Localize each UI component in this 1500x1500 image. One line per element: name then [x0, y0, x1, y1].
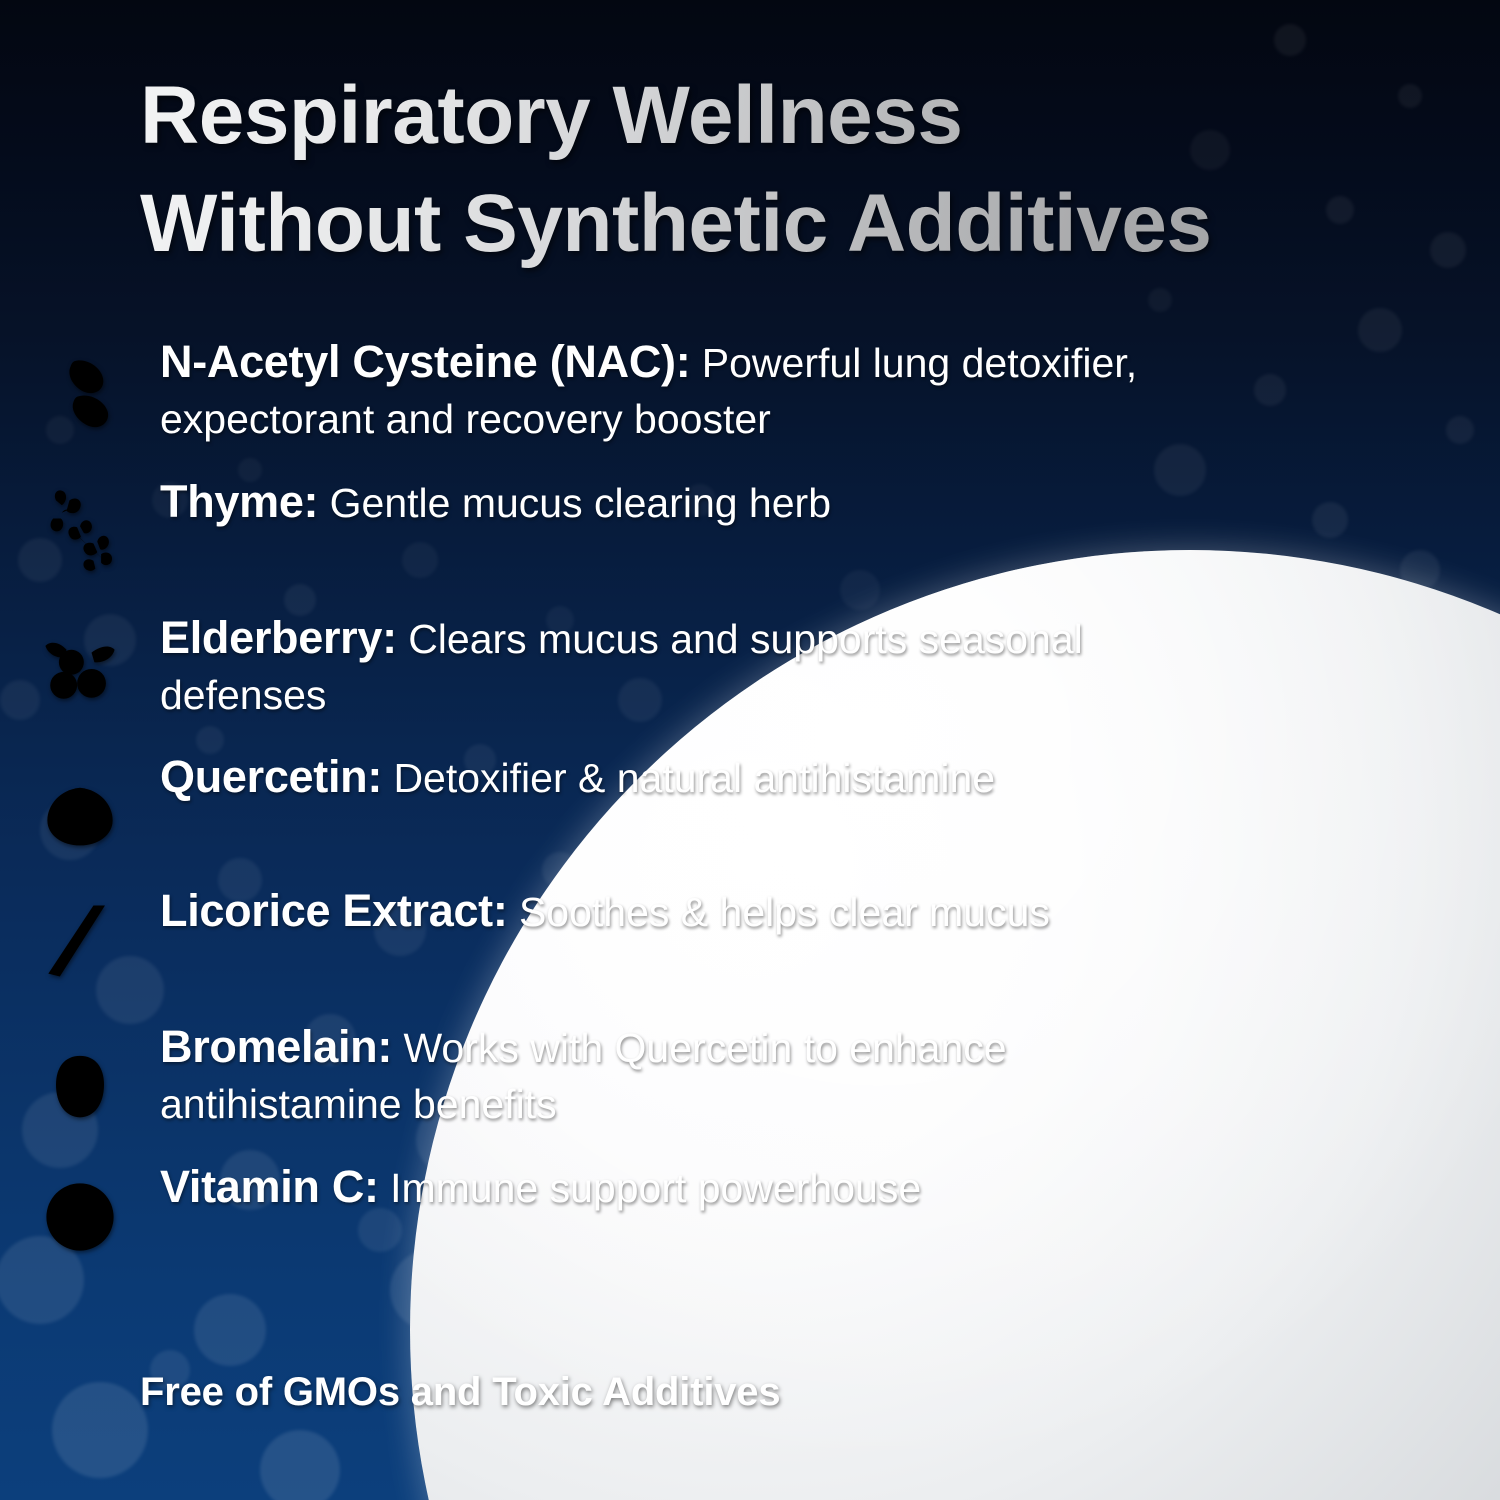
- ingredient-line: Quercetin: Detoxifier & natural antihist…: [160, 747, 995, 807]
- ingredient-row: N-Acetyl Cysteine (NAC): Powerful lung d…: [0, 330, 1500, 446]
- ingredient-term: Elderberry:: [160, 612, 397, 663]
- ingredient-line: N-Acetyl Cysteine (NAC): Powerful lung d…: [160, 332, 1170, 446]
- thyme-sprig-icon: [0, 470, 160, 580]
- pineapple-icon: [0, 1015, 160, 1125]
- ingredient-line: Vitamin C: Immune support powerhouse: [160, 1157, 921, 1217]
- ingredient-term: N-Acetyl Cysteine (NAC):: [160, 336, 690, 387]
- ingredient-text: Elderberry: Clears mucus and supports se…: [160, 606, 1290, 722]
- ingredient-term: Licorice Extract:: [160, 885, 508, 936]
- ingredient-row: Elderberry: Clears mucus and supports se…: [0, 606, 1500, 722]
- ingredient-text: Licorice Extract: Soothes & helps clear …: [160, 879, 1170, 941]
- ingredient-row: Thyme: Gentle mucus clearing herb: [0, 470, 1500, 580]
- ingredient-line: Thyme: Gentle mucus clearing herb: [160, 472, 831, 532]
- ingredient-row: Licorice Extract: Soothes & helps clear …: [0, 879, 1500, 989]
- promo-graphic: Respiratory Wellness Without Synthetic A…: [0, 0, 1500, 1500]
- content-layer: Respiratory Wellness Without Synthetic A…: [0, 0, 1500, 1500]
- seeds-icon: [0, 330, 160, 440]
- ingredient-text: Bromelain: Works with Quercetin to enhan…: [160, 1015, 1290, 1131]
- ingredient-row: Quercetin: Detoxifier & natural antihist…: [0, 745, 1500, 855]
- ingredient-text: N-Acetyl Cysteine (NAC): Powerful lung d…: [160, 330, 1290, 446]
- ingredient-term: Quercetin:: [160, 751, 382, 802]
- page-title: Respiratory Wellness Without Synthetic A…: [140, 62, 1420, 278]
- onion-bulb-icon: [0, 745, 160, 855]
- ingredient-description: Gentle mucus clearing herb: [318, 480, 831, 526]
- citrus-slice-icon: [0, 1155, 160, 1265]
- ingredient-line: Elderberry: Clears mucus and supports se…: [160, 608, 1170, 722]
- ingredient-term: Vitamin C:: [160, 1161, 379, 1212]
- ingredient-line: Licorice Extract: Soothes & helps clear …: [160, 881, 1050, 941]
- ingredient-description: Immune support powerhouse: [379, 1165, 921, 1211]
- ingredient-text: Vitamin C: Immune support powerhouse: [160, 1155, 1041, 1217]
- ingredient-text: Quercetin: Detoxifier & natural antihist…: [160, 745, 1115, 807]
- ingredient-row: Bromelain: Works with Quercetin to enhan…: [0, 1015, 1500, 1131]
- ingredient-description: Soothes & helps clear mucus: [508, 889, 1050, 935]
- ingredient-term: Thyme:: [160, 476, 318, 527]
- ingredient-description: Detoxifier & natural antihistamine: [382, 755, 995, 801]
- footer-claim: Free of GMOs and Toxic Additives: [140, 1370, 780, 1415]
- elderberry-icon: [0, 606, 160, 716]
- licorice-root-icon: [0, 879, 160, 989]
- ingredient-term: Bromelain:: [160, 1021, 392, 1072]
- ingredient-row: Vitamin C: Immune support powerhouse: [0, 1155, 1500, 1265]
- ingredient-line: Bromelain: Works with Quercetin to enhan…: [160, 1017, 1170, 1131]
- ingredient-list: N-Acetyl Cysteine (NAC): Powerful lung d…: [0, 330, 1500, 1265]
- ingredient-text: Thyme: Gentle mucus clearing herb: [160, 470, 951, 532]
